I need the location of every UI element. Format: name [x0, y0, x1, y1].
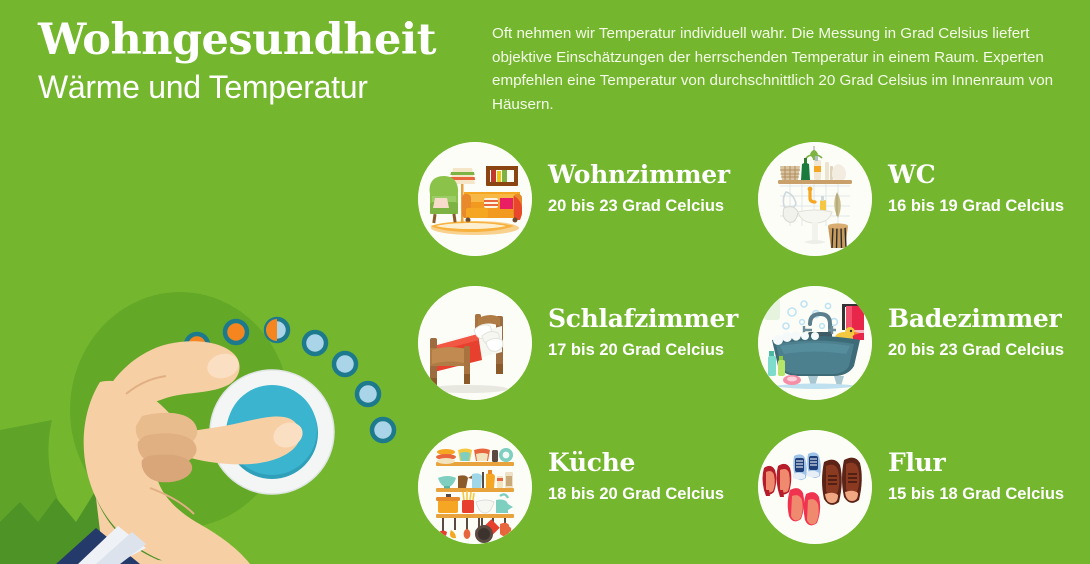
room-text-block: Wohnzimmer 20 bis 23 Grad Celcius [548, 160, 758, 218]
room-temperature: 17 bis 20 Grad Celcius [548, 338, 758, 362]
room-name: WC [888, 160, 1090, 190]
room-temperature-list: Wohnzimmer 20 bis 23 Grad Celcius [0, 0, 1090, 564]
room-name: Wohnzimmer [548, 160, 758, 190]
wc-icon [758, 142, 872, 256]
room-name: Badezimmer [888, 304, 1090, 334]
hallway-icon [758, 430, 872, 544]
room-text-block: Badezimmer 20 bis 23 Grad Celcius [888, 304, 1090, 362]
room-text-block: Schlafzimmer 17 bis 20 Grad Celcius [548, 304, 758, 362]
room-name: Flur [888, 448, 1090, 478]
room-card-kueche[interactable]: Küche 18 bis 20 Grad Celcius [418, 430, 750, 550]
room-temperature: 15 bis 18 Grad Celcius [888, 482, 1090, 506]
room-text-block: WC 16 bis 19 Grad Celcius [888, 160, 1090, 218]
bedroom-icon [418, 286, 532, 400]
room-card-wc[interactable]: WC 16 bis 19 Grad Celcius [758, 142, 1090, 262]
room-name: Schlafzimmer [548, 304, 758, 334]
room-temperature: 18 bis 20 Grad Celcius [548, 482, 758, 506]
room-temperature: 20 bis 23 Grad Celcius [548, 194, 758, 218]
room-text-block: Küche 18 bis 20 Grad Celcius [548, 448, 758, 506]
room-temperature: 16 bis 19 Grad Celcius [888, 194, 1090, 218]
room-temperature: 20 bis 23 Grad Celcius [888, 338, 1090, 362]
room-card-badezimmer[interactable]: Badezimmer 20 bis 23 Grad Celcius [758, 286, 1090, 406]
room-card-wohnzimmer[interactable]: Wohnzimmer 20 bis 23 Grad Celcius [418, 142, 750, 262]
living-room-icon [418, 142, 532, 256]
room-text-block: Flur 15 bis 18 Grad Celcius [888, 448, 1090, 506]
kitchen-icon [418, 430, 532, 544]
bathroom-icon [758, 286, 872, 400]
room-card-schlafzimmer[interactable]: Schlafzimmer 17 bis 20 Grad Celcius [418, 286, 750, 406]
room-card-flur[interactable]: Flur 15 bis 18 Grad Celcius [758, 430, 1090, 550]
room-name: Küche [548, 448, 758, 478]
